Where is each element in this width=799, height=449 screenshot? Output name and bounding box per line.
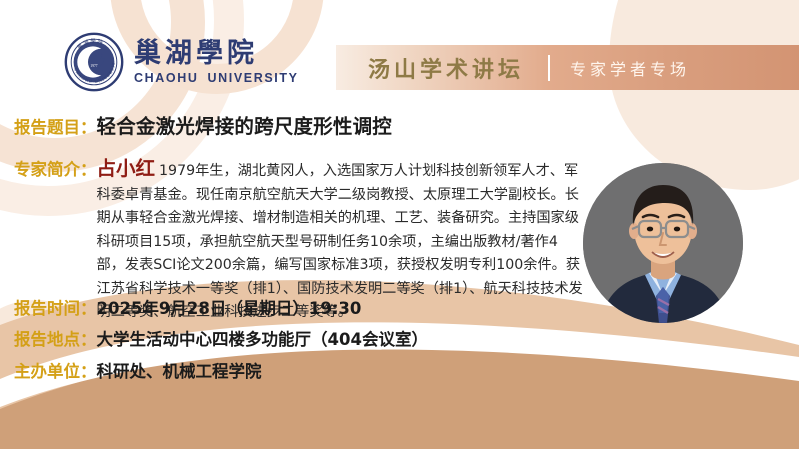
banner-subtitle: 专家学者专场 [570, 56, 690, 80]
banner-divider [548, 55, 550, 81]
report-time-label: 报告时间： [14, 295, 97, 319]
university-logo-block: 1977 巢湖學院 CHAOHU UNIVERSITY 巢湖學院 CHAOHU … [64, 32, 299, 92]
university-name-en: CHAOHU UNIVERSITY [134, 72, 299, 85]
banner-main-title: 汤山学术讲坛 [368, 52, 524, 84]
organizer-value: 科研处、机械工程学院 [97, 358, 262, 382]
chaohu-university-seal-icon: 1977 巢湖學院 CHAOHU UNIVERSITY [64, 32, 124, 92]
report-title-row: 报告题目： 轻合金激光焊接的跨尺度形性调控 [14, 110, 392, 139]
report-title-label: 报告题目： [14, 114, 97, 138]
speaker-portrait-photo [583, 163, 743, 323]
forum-banner: 汤山学术讲坛 专家学者专场 [336, 45, 799, 90]
report-place-label: 报告地点： [14, 326, 97, 350]
report-time-row: 报告时间： 2025年9月28日（星期日）19:30 [14, 295, 361, 319]
report-place-value: 大学生活动中心四楼多功能厅（404会议室） [97, 326, 428, 350]
top-right-blob [609, 0, 799, 190]
speaker-bio-label: 专家简介： [14, 156, 97, 180]
seminar-poster: 汤山学术讲坛 专家学者专场 1977 巢湖學院 CHAOH [0, 0, 799, 449]
organizer-row: 主办单位： 科研处、机械工程学院 [14, 358, 262, 382]
speaker-name: 占小红 [97, 157, 156, 180]
report-title-value: 轻合金激光焊接的跨尺度形性调控 [97, 110, 393, 139]
university-name-block: 巢湖學院 CHAOHU UNIVERSITY [134, 40, 299, 85]
report-time-value: 2025年9月28日（星期日）19:30 [97, 295, 362, 319]
organizer-label: 主办单位： [14, 358, 97, 382]
svg-text:1977: 1977 [90, 64, 97, 68]
report-place-row: 报告地点： 大学生活动中心四楼多功能厅（404会议室） [14, 326, 428, 350]
university-name-cn: 巢湖學院 [134, 40, 299, 67]
